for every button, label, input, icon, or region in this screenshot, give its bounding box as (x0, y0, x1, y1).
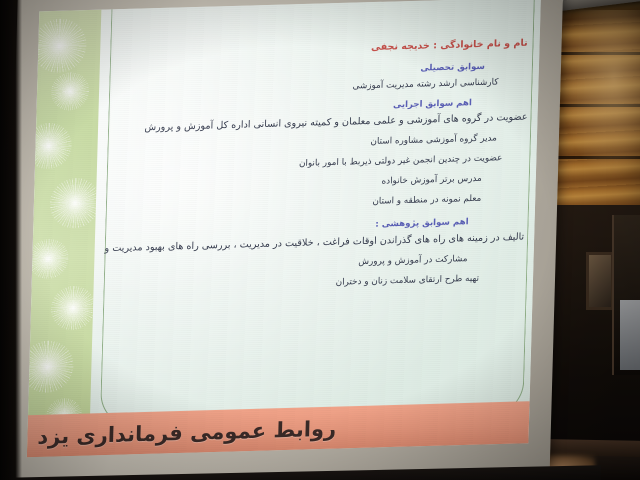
dandelion-motif (49, 177, 100, 228)
slide-decorative-strip (27, 10, 102, 458)
dandelion-motif (28, 238, 69, 279)
conference-room-photo: نام و نام خانوادگی : خدیجه نجفی سوابق تح… (0, 0, 640, 480)
footer-banner-text: روابط عمومی فرمانداری یزد (37, 416, 359, 449)
executive-item: مدیر گروه آموزشی مشاوره استان (109, 133, 527, 156)
dandelion-motif (50, 285, 95, 330)
wall-light-panel (620, 300, 640, 370)
wall-picture-frame (586, 252, 614, 310)
dandelion-motif (27, 340, 74, 393)
executive-item: معلم نمونه در منطقه و استان (108, 193, 526, 216)
dandelion-motif (51, 72, 90, 111)
person-name-line: نام و نام خانوادگی : خدیجه نجفی (112, 38, 530, 62)
screen-canvas: نام و نام خانوادگی : خدیجه نجفی سوابق تح… (27, 0, 541, 457)
research-item: تهیه طرح ارتقای سلامت زنان و دختران (105, 272, 523, 295)
left-dark-edge (0, 0, 22, 480)
research-item: مشارکت در آموزش و پرورش (106, 253, 524, 276)
slide-text-body: نام و نام خانوادگی : خدیجه نجفی سوابق تح… (105, 38, 529, 301)
powerpoint-slide: نام و نام خانوادگی : خدیجه نجفی سوابق تح… (27, 0, 541, 457)
executive-item: مدرس برتر آموزش خانواده (108, 173, 526, 196)
dandelion-motif (32, 18, 88, 73)
executive-item: عضویت در چندین انجمن غیر دولتی ذیربط با … (109, 153, 527, 176)
projection-screen: نام و نام خانوادگی : خدیجه نجفی سوابق تح… (4, 0, 564, 480)
